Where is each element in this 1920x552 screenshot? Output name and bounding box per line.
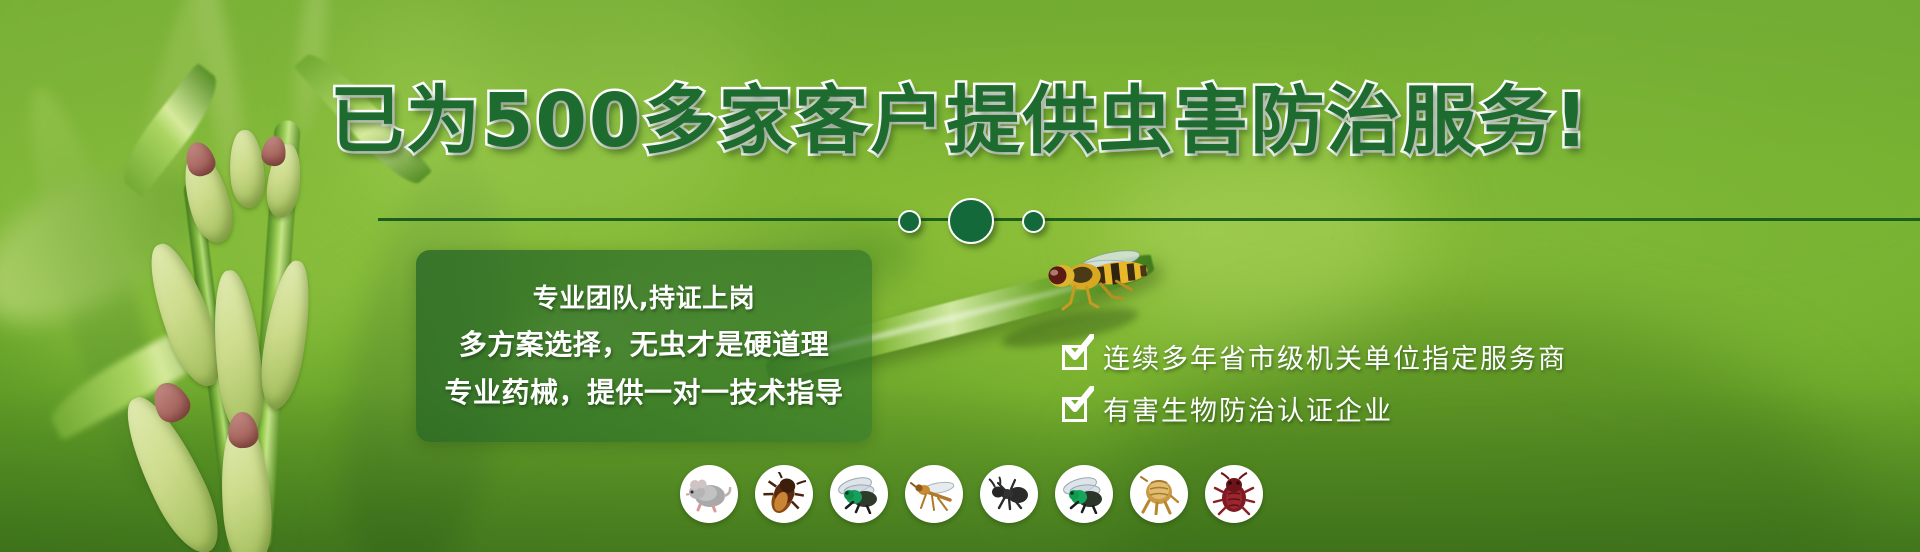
decorative-dot-small <box>1022 210 1045 233</box>
credential-item: 有害生物防治认证企业 <box>1062 382 1567 434</box>
promo-banner: 已为500多家客户提供虫害防治服务! 专业团队,持证上岗 多方案选择，无虫才是硬… <box>0 0 1920 552</box>
credential-item: 连续多年省市级机关单位指定服务商 <box>1062 330 1567 382</box>
ant-icon[interactable] <box>980 465 1038 523</box>
feature-panel: 专业团队,持证上岗 多方案选择，无虫才是硬道理 专业药械，提供一对一技术指导 <box>416 250 872 442</box>
credentials-list: 连续多年省市级机关单位指定服务商 有害生物防治认证企业 <box>1062 330 1567 434</box>
flea-icon[interactable] <box>1130 465 1188 523</box>
checkbox-checked-icon <box>1062 395 1089 422</box>
page-title: 已为500多家客户提供虫害防治服务! <box>0 84 1920 158</box>
divider <box>378 218 1920 221</box>
cockroach-icon[interactable] <box>755 465 813 523</box>
bedbug-icon[interactable] <box>1205 465 1263 523</box>
credential-label: 连续多年省市级机关单位指定服务商 <box>1103 337 1567 376</box>
mouse-icon[interactable] <box>680 465 738 523</box>
feature-line-1: 专业团队,持证上岗 <box>533 278 755 315</box>
pest-icon-strip <box>680 465 1263 523</box>
decorative-dots <box>880 198 1100 244</box>
decorative-dot-small <box>898 210 921 233</box>
housefly-icon[interactable] <box>830 465 888 523</box>
decorative-dot-large <box>948 198 994 244</box>
hoverfly-illustration <box>1037 242 1161 314</box>
checkbox-checked-icon <box>1062 343 1089 370</box>
feature-line-3: 专业药械，提供一对一技术指导 <box>444 371 843 411</box>
credential-label: 有害生物防治认证企业 <box>1103 389 1393 428</box>
blowfly-icon[interactable] <box>1055 465 1113 523</box>
feature-line-2: 多方案选择，无虫才是硬道理 <box>459 323 830 363</box>
mosquito-icon[interactable] <box>905 465 963 523</box>
